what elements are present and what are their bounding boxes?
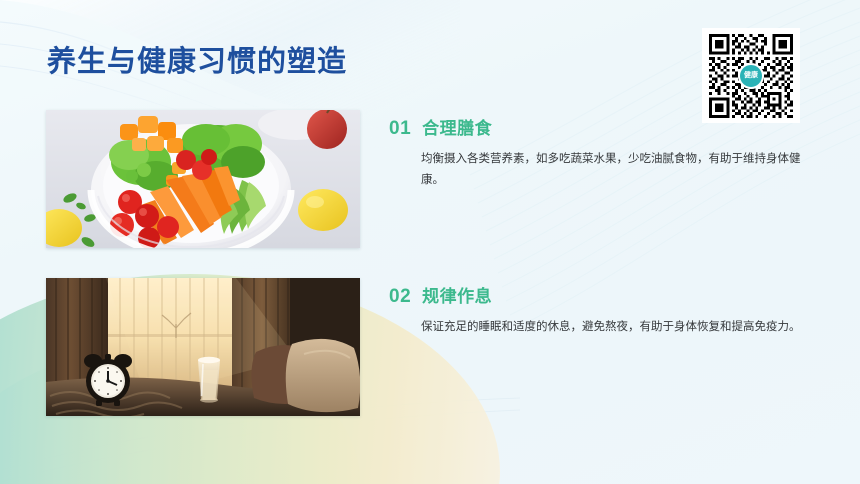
item-body-1: 均衡摄入各类营养素，如多吃蔬菜水果，少吃油腻食物，有助于维持身体健康。 [421,149,811,191]
salad-bowl-photo [46,110,360,248]
page-title: 养生与健康习惯的塑造 [47,38,347,80]
qr-center-logo: 健康 [738,63,764,89]
salad-bowl-illustration [46,110,360,248]
item-heading-1: 合理膳食 [422,114,492,139]
bedroom-illustration [46,278,360,416]
content-heading-row-1: 01 合理膳食 [389,114,809,140]
item-number-2: 02 [389,286,411,308]
bedroom-alarm-clock-photo [46,278,360,416]
content-text-1: 01 合理膳食 均衡摄入各类营养素，如多吃蔬菜水果，少吃油腻食物，有助于维持身体… [389,114,809,191]
item-number-1: 01 [389,118,411,140]
slide-canvas: 养生与健康习惯的塑造 [0,0,860,484]
content-heading-row-2: 02 规律作息 [389,282,809,308]
content-text-2: 02 规律作息 保证充足的睡眠和适度的休息，避免熬夜，有助于身体恢复和提高免疫力… [389,282,809,338]
item-heading-2: 规律作息 [422,282,492,307]
item-body-2: 保证充足的睡眠和适度的休息，避免熬夜，有助于身体恢复和提高免疫力。 [421,317,811,338]
qr-code-matrix: 健康 [709,34,793,118]
qr-code[interactable]: 健康 [702,28,800,123]
